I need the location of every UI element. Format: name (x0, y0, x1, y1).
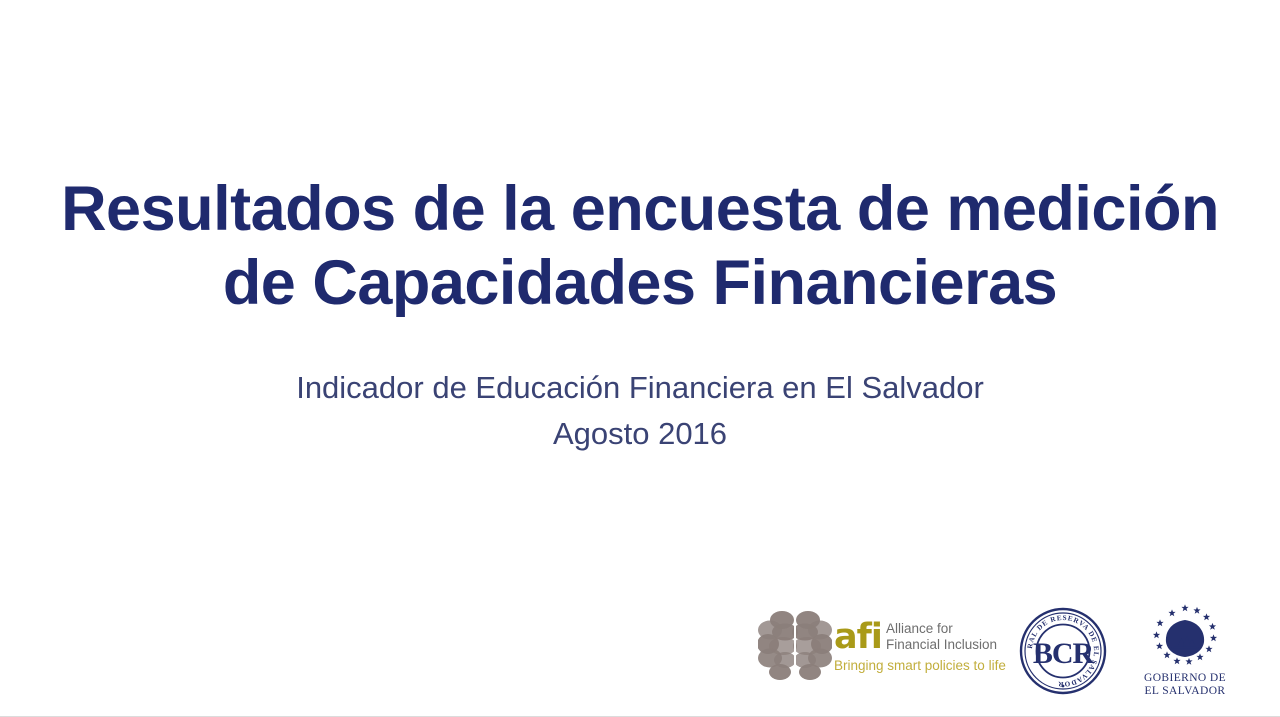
subtitle-line-1: Indicador de Educación Financiera en El … (0, 365, 1280, 411)
bcr-seal-icon: BANCO CENTRAL DE RESERVA DE EL SALVADOR … (1018, 606, 1108, 696)
goes-label: GOBIERNO DE EL SALVADOR (1132, 672, 1238, 698)
afi-wordmark: afi (834, 620, 882, 654)
presentation-slide: Resultados de la encuesta de medición de… (0, 0, 1280, 717)
goes-logo: GOBIERNO DE EL SALVADOR (1132, 604, 1238, 700)
logo-row: afi Alliance for Financial Inclusion Bri… (742, 596, 1242, 702)
svg-text:BCR: BCR (1033, 637, 1095, 670)
title-line-1: Resultados de la encuesta de medición (0, 172, 1280, 246)
subtitle-line-2: Agosto 2016 (0, 411, 1280, 457)
slide-title: Resultados de la encuesta de medición de… (0, 172, 1280, 320)
afi-name-line-1: Alliance for (886, 621, 953, 637)
afi-name-line-2: Financial Inclusion (886, 637, 997, 653)
afi-wordmark-block: afi Alliance for Financial Inclusion Bri… (834, 620, 994, 684)
slide-subtitle: Indicador de Educación Financiera en El … (0, 365, 1280, 457)
title-line-2: de Capacidades Financieras (0, 246, 1280, 320)
goes-label-line-2: EL SALVADOR (1132, 685, 1238, 698)
el-salvador-coat-of-arms-icon (1145, 604, 1225, 672)
goes-label-line-1: GOBIERNO DE (1132, 672, 1238, 685)
afi-brain-icon (758, 610, 832, 684)
afi-slogan: Bringing smart policies to life (834, 658, 1006, 674)
afi-logo: afi Alliance for Financial Inclusion Bri… (750, 600, 990, 692)
